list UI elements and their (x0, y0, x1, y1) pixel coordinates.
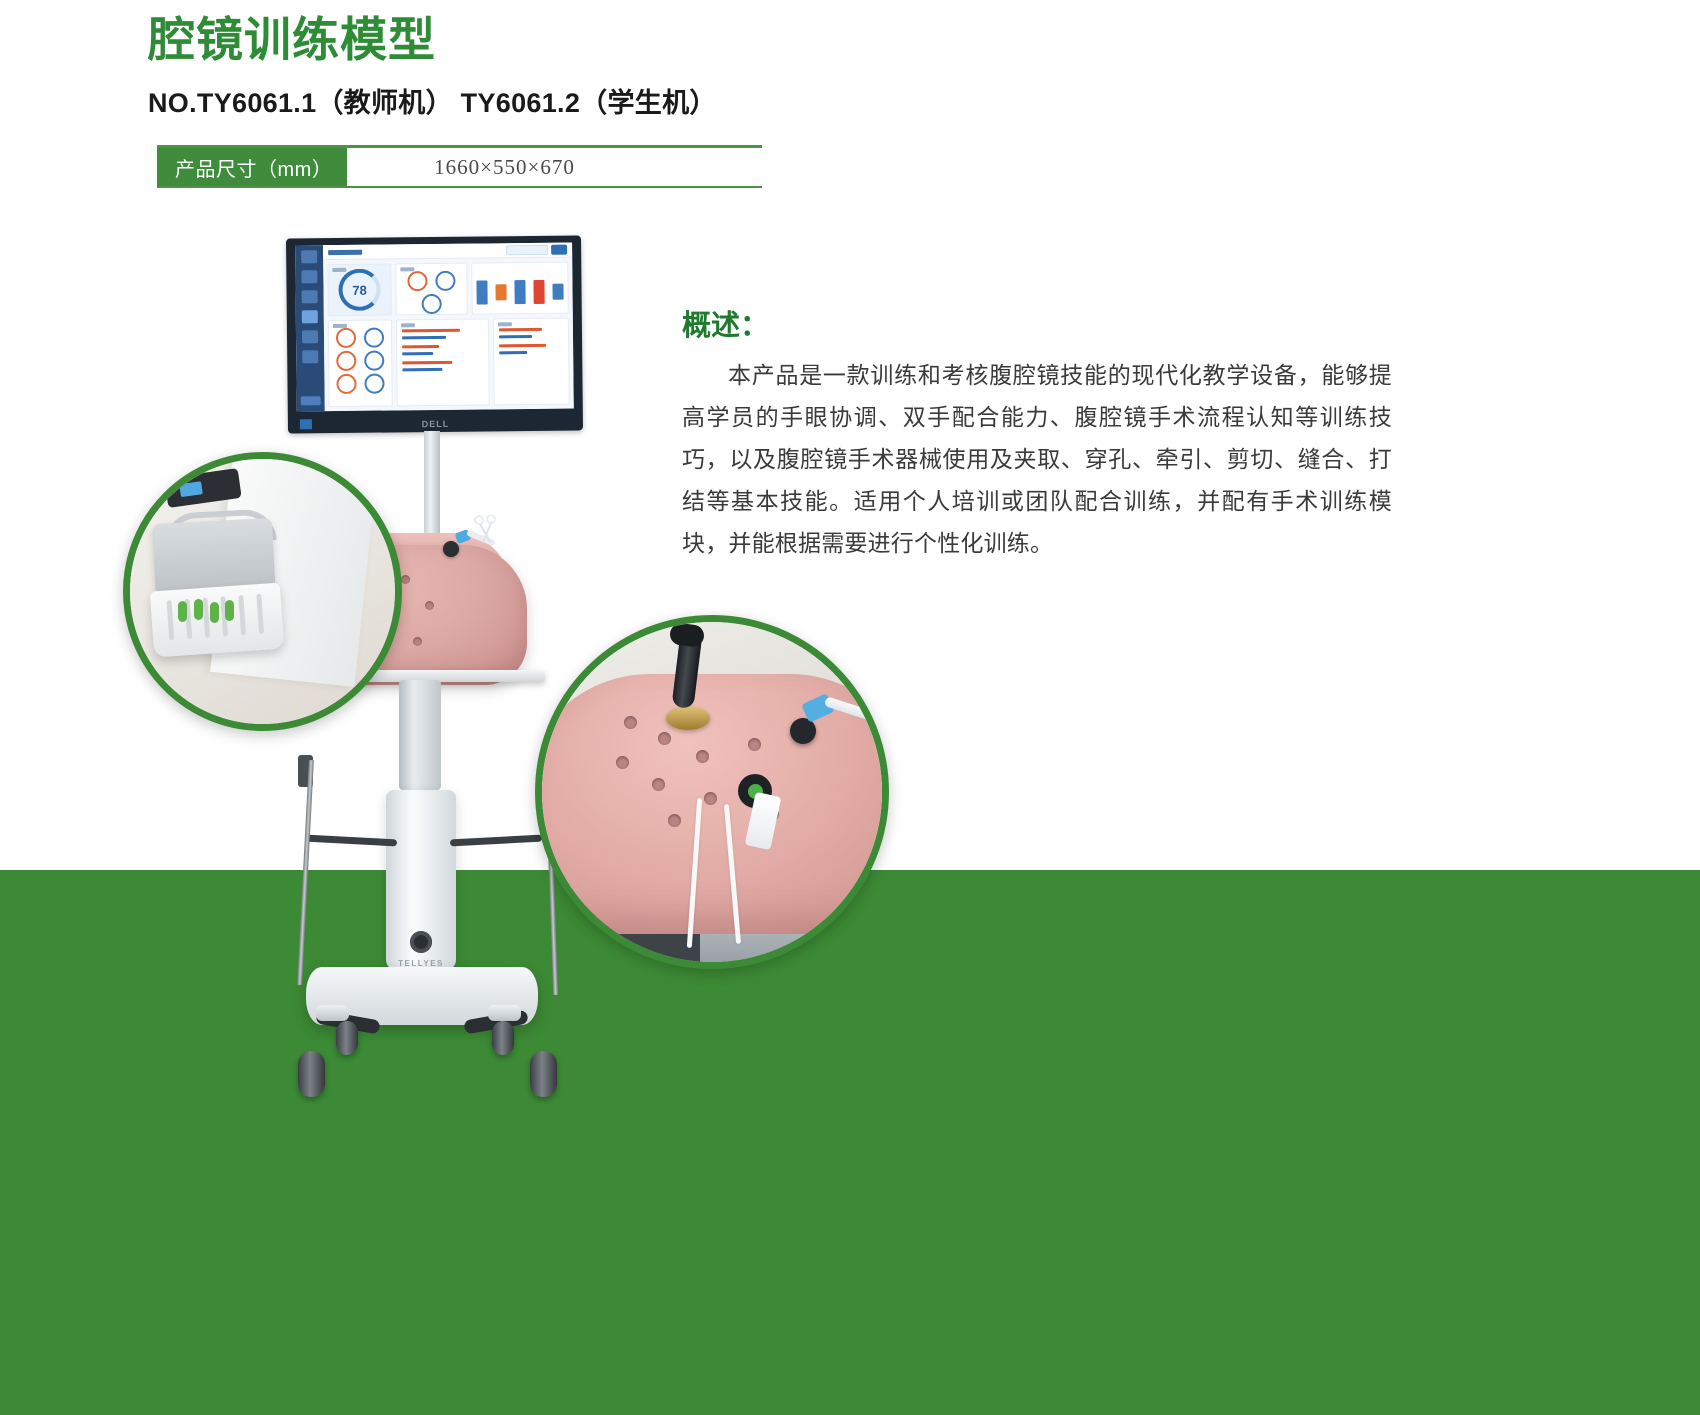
page-title: 腔镜训练模型 (148, 14, 1148, 67)
trocar-port (425, 601, 434, 610)
metric-ring (364, 328, 384, 348)
page-header: 腔镜训练模型 NO.TY6061.1（教师机） TY6061.2（学生机） (148, 14, 1148, 120)
metrics-card (395, 263, 468, 316)
instrument-rod-left (297, 760, 314, 985)
skills-card (328, 319, 393, 407)
caster-mount (316, 1005, 349, 1021)
comparison-card (471, 262, 568, 315)
skill-ring-row (336, 328, 384, 349)
monitor: 78 (286, 235, 583, 433)
chart-bar (402, 361, 452, 365)
gold-insertion-ring (666, 706, 710, 730)
dashboard-body: 78 (323, 258, 574, 412)
secondary-chart-card (492, 318, 569, 406)
detail-inset-right (535, 615, 889, 969)
cart-handle-left[interactable] (305, 835, 397, 847)
product-page: 腔镜训练模型 NO.TY6061.1（教师机） TY6061.2（学生机） 产品… (0, 0, 1700, 1415)
skill-ring-row (336, 374, 384, 395)
metric-ring (336, 374, 356, 394)
metric-ring (336, 351, 356, 371)
spec-value-size: 1660×550×670 (347, 148, 762, 186)
metric-ring (336, 328, 356, 348)
score-value: 78 (352, 282, 367, 297)
chart-bar (499, 328, 543, 331)
training-peg (194, 599, 203, 620)
home-icon (301, 250, 317, 263)
tray-slot (167, 600, 175, 640)
metric-ring (364, 374, 384, 394)
metric-ring (364, 351, 384, 371)
bar-chart-card (396, 318, 489, 406)
cart-column-upper (399, 680, 441, 790)
metric-ring (435, 270, 455, 290)
dashboard-main: 78 (323, 243, 574, 412)
model-number-line: NO.TY6061.1（教师机） TY6061.2（学生机） (148, 81, 1148, 120)
trocar-port (616, 756, 629, 769)
bar-indicator (552, 284, 563, 300)
metric-ring (407, 271, 427, 291)
trocar-port (624, 716, 637, 729)
training-peg (225, 600, 234, 621)
spec-label-size: 产品尺寸（mm） (157, 148, 347, 186)
training-peg (178, 601, 187, 622)
sidebar-action-button (301, 396, 321, 405)
chart-bar (499, 335, 533, 338)
chart-bar (402, 329, 460, 333)
dashboard-sidebar (295, 245, 325, 411)
topbar-button (551, 245, 567, 255)
metric-ring-row-1 (407, 270, 455, 291)
bar-chart-card-label (401, 323, 415, 327)
document-icon (302, 330, 318, 343)
results-icon (302, 310, 318, 323)
green-training-pegs (178, 599, 234, 623)
metric-ring-row-2 (422, 293, 442, 313)
score-card-label (332, 268, 346, 272)
detail-inset-left (123, 452, 402, 731)
trocar-port (658, 732, 671, 745)
chart-bar (402, 336, 446, 339)
caster-mount (488, 1005, 521, 1021)
trocar-valve (443, 541, 459, 557)
trocar-port (748, 738, 761, 751)
skills-card-label (333, 324, 347, 328)
metric-ring (422, 293, 442, 313)
spec-table: 产品尺寸（mm） 1660×550×670 (157, 145, 762, 188)
chart-bar (499, 351, 527, 354)
caster-wheel (530, 1051, 557, 1097)
user-icon (301, 270, 317, 283)
metrics-card-label (400, 267, 414, 271)
bar-indicator (477, 280, 488, 304)
caster-wheel (492, 1021, 514, 1055)
session-info-chip (506, 245, 548, 255)
bar-indicator (515, 280, 526, 304)
monitor-arm (424, 431, 440, 549)
tray-slot (238, 595, 246, 635)
training-peg (210, 602, 219, 623)
cart-power-button[interactable] (410, 931, 432, 953)
trocar-port (704, 792, 717, 805)
activity-icon (302, 290, 318, 303)
trocar-port (652, 778, 665, 791)
trocar-port (696, 750, 709, 763)
trocar-port (401, 575, 410, 584)
spec-table-bottom-rule (157, 186, 762, 188)
dashboard-row-top: 78 (327, 262, 569, 317)
dashboard-topbar-right (506, 245, 567, 256)
trocar-port (668, 814, 681, 827)
bar-indicator (496, 284, 507, 300)
caster-wheel (336, 1021, 358, 1055)
scanner-lens-icon (179, 481, 203, 497)
secondary-chart-label (497, 322, 511, 326)
monitor-screen: 78 (295, 243, 574, 412)
score-gauge: 78 (338, 269, 380, 311)
score-card: 78 (327, 263, 392, 316)
abdominal-module (535, 674, 889, 934)
surgical-scissors-icon (472, 515, 502, 545)
cart-handle-right[interactable] (450, 835, 542, 847)
chart-bar (402, 345, 439, 348)
tray-slot (256, 594, 264, 634)
dashboard-row-bottom (328, 318, 570, 408)
chart-bar (402, 368, 442, 371)
gear-icon (302, 350, 318, 363)
trocar-valve (790, 718, 816, 744)
caster-wheel (298, 1051, 325, 1097)
chart-bar (402, 352, 433, 355)
table-row: 产品尺寸（mm） 1660×550×670 (157, 148, 762, 186)
product-photograph: 78 (120, 215, 1080, 1355)
dashboard-title (328, 249, 362, 254)
monitor-brand-logo: DELL (288, 417, 583, 430)
chart-bar (499, 344, 547, 347)
trocar-port (413, 637, 422, 646)
training-dashboard: 78 (295, 243, 574, 412)
bar-indicator (533, 280, 544, 304)
skill-ring-row (336, 351, 384, 372)
